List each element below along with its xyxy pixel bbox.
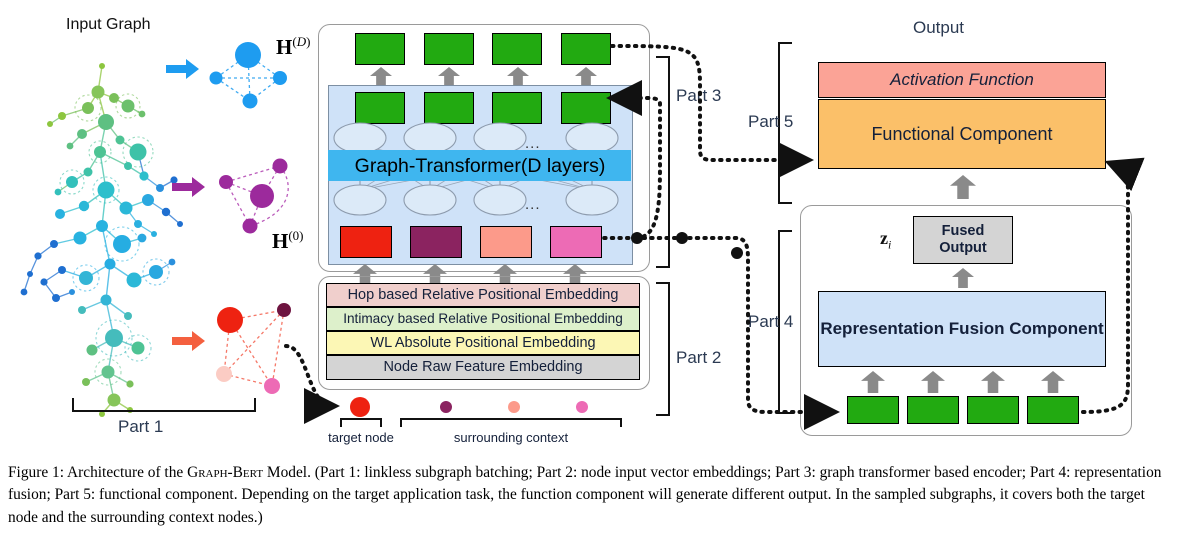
caption-prefix: Figure 1: Architecture of the: [8, 464, 187, 481]
figure-canvas: Input Graph: [0, 0, 1182, 546]
caption-model-name: Graph-Bert: [187, 464, 263, 481]
figure-caption: Figure 1: Architecture of the Graph-Bert…: [8, 462, 1176, 529]
dotted-connectors: [0, 0, 1182, 460]
